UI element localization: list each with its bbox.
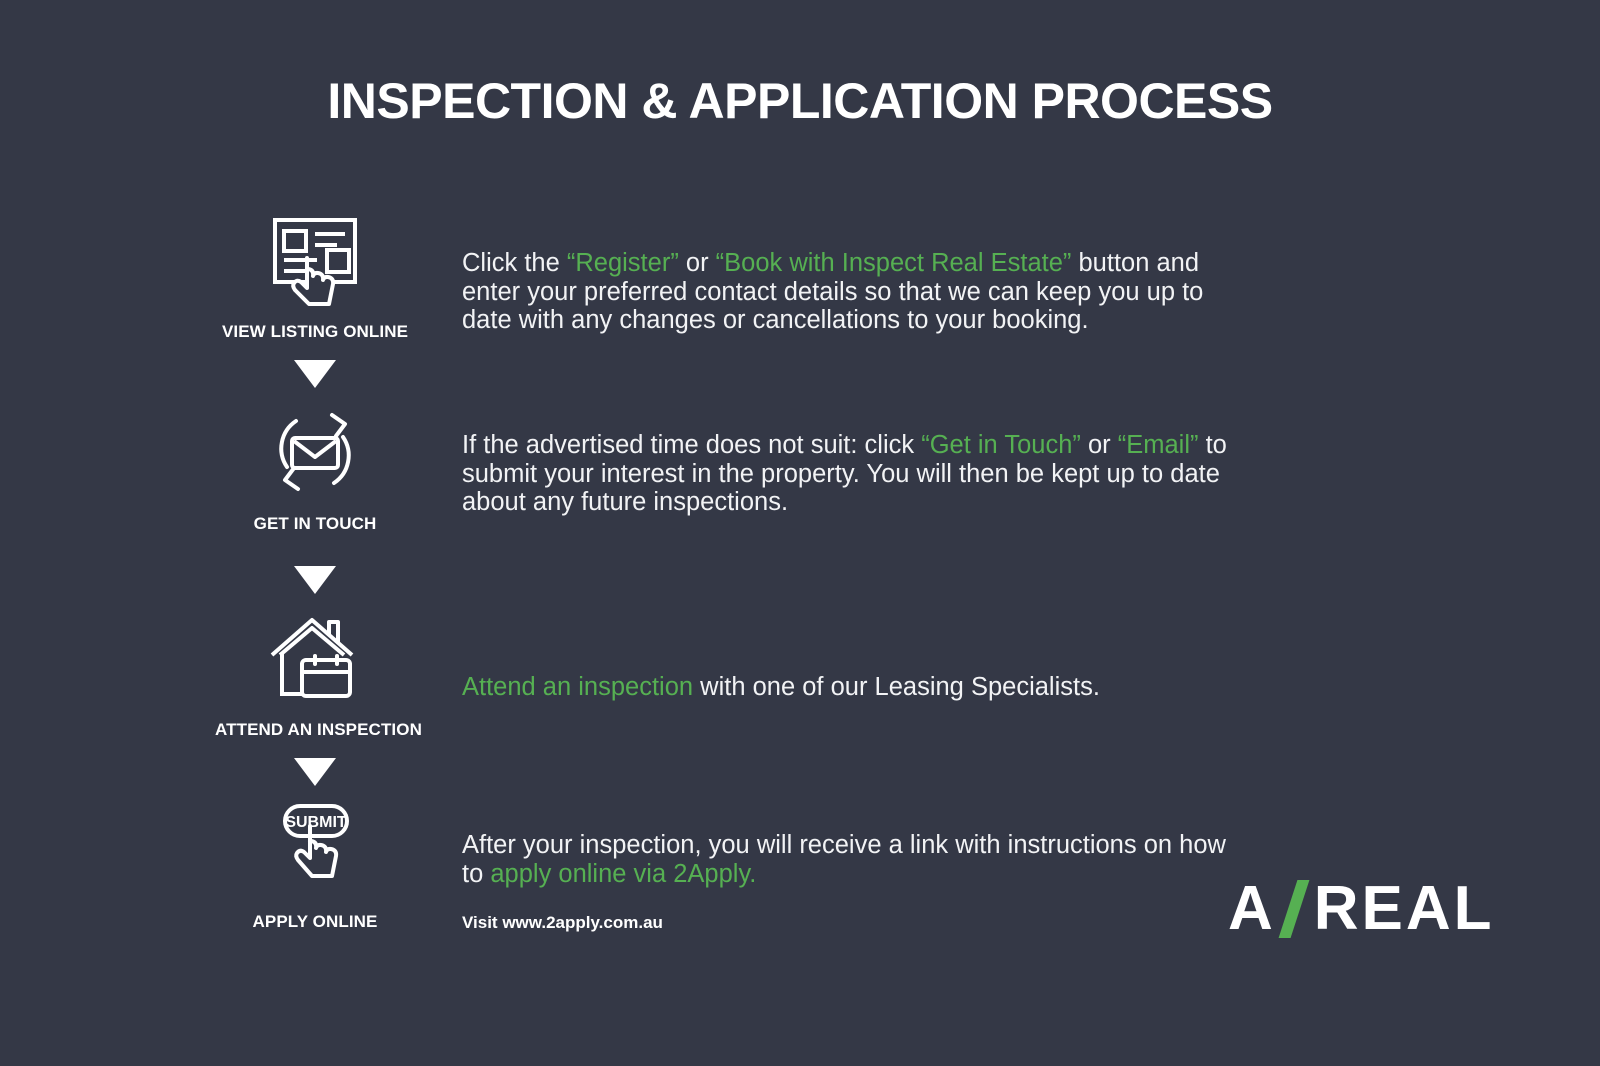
step-2-label: GET IN TOUCH	[215, 514, 415, 534]
brand-logo: A REAL	[1228, 878, 1495, 940]
text-segment-2: or	[679, 249, 716, 277]
visit-url-line: Visit www.2apply.com.au	[462, 913, 663, 933]
email-refresh-icon	[215, 402, 415, 502]
page-title: INSPECTION & APPLICATION PROCESS	[0, 72, 1600, 130]
text-segment-1: apply online via 2Apply.	[490, 860, 756, 888]
text-segment-3: “Email”	[1118, 431, 1199, 459]
flow-arrow-2	[215, 566, 415, 594]
flow-arrow-3	[215, 758, 415, 786]
text-segment-1: “Get in Touch”	[921, 431, 1081, 459]
logo-slash-icon	[1278, 880, 1309, 938]
submit-icon-text: SUBMIT	[285, 814, 347, 831]
listing-page-click-icon	[215, 210, 415, 310]
text-segment-1: with one of our Leasing Specialists.	[693, 673, 1100, 701]
text-segment-0: Attend an inspection	[462, 673, 693, 701]
text-segment-0: Click the	[462, 249, 567, 277]
step-1: VIEW LISTING ONLINE	[215, 210, 415, 342]
step-2: GET IN TOUCH	[215, 402, 415, 534]
step-4: SUBMIT APPLY ONLINE	[215, 800, 415, 932]
logo-word-real: REAL	[1314, 878, 1495, 940]
step-1-paragraph: Click the “Register” or “Book with Inspe…	[462, 249, 1232, 335]
text-segment-0: If the advertised time does not suit: cl…	[462, 431, 921, 459]
submit-button-click-icon: SUBMIT	[215, 800, 415, 900]
step-4-paragraph: After your inspection, you will receive …	[462, 831, 1232, 888]
text-segment-3: “Book with Inspect Real Estate”	[716, 249, 1072, 277]
logo-letter-a: A	[1228, 878, 1276, 940]
step-3-paragraph: Attend an inspection with one of our Lea…	[462, 673, 1232, 702]
step-3-label: ATTEND AN INSPECTION	[215, 720, 415, 740]
flow-arrow-1	[215, 360, 415, 388]
step-4-label: APPLY ONLINE	[215, 912, 415, 932]
text-segment-1: “Register”	[567, 249, 679, 277]
text-segment-2: or	[1081, 431, 1118, 459]
house-calendar-icon	[215, 608, 415, 708]
step-1-label: VIEW LISTING ONLINE	[215, 322, 415, 342]
step-2-paragraph: If the advertised time does not suit: cl…	[462, 431, 1232, 517]
steps-column: VIEW LISTING ONLINE GET IN TOUCH	[215, 210, 415, 932]
step-3: ATTEND AN INSPECTION	[215, 608, 415, 740]
